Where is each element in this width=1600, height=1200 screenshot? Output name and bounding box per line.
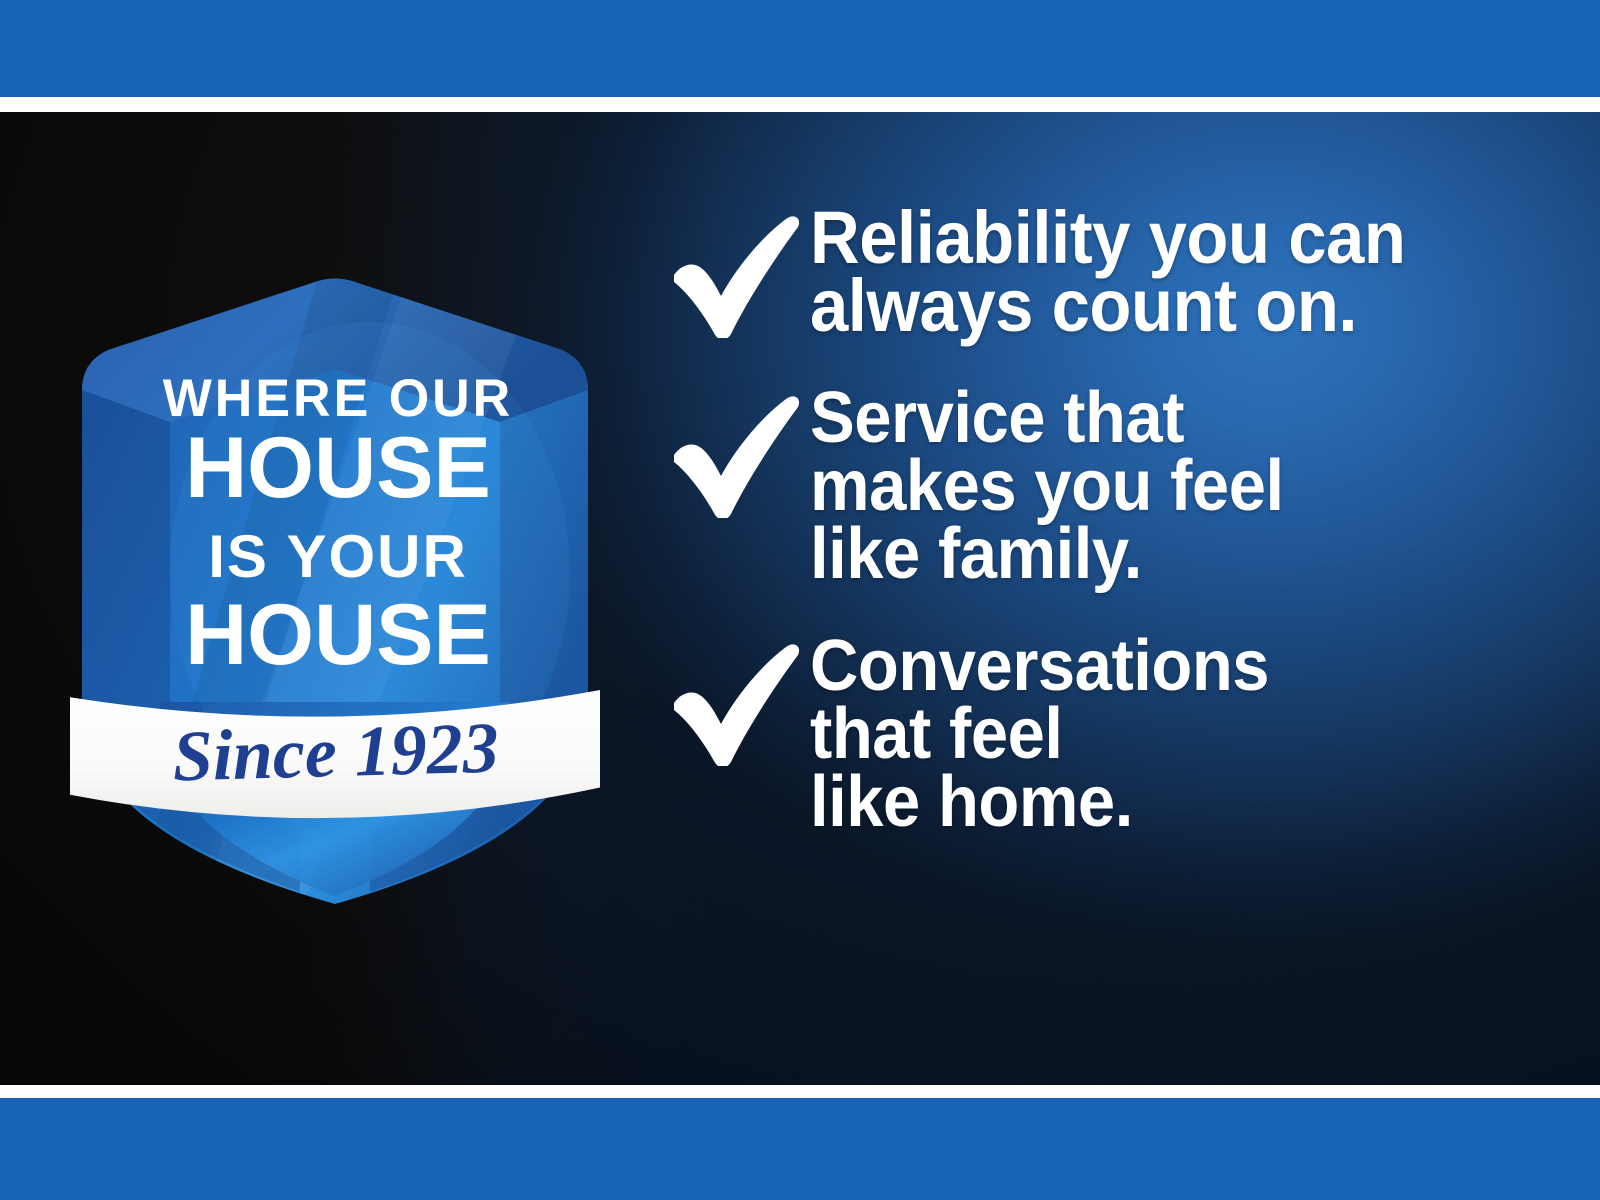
benefit-text: Reliability you can always count on.	[810, 202, 1489, 340]
badge-line-1: WHERE OUR	[163, 368, 514, 428]
ribbon-text: Since 1923	[172, 707, 500, 796]
top-brand-bar	[0, 0, 1600, 97]
badge-line-4: HOUSE	[185, 587, 491, 683]
badge-line-2: HOUSE	[185, 420, 491, 516]
checkmark-icon	[660, 638, 810, 766]
shield-badge: WHERE OUR HOUSE IS YOUR HOUSE Since 1923	[70, 272, 600, 912]
benefit-item: Conversations that feel like home.	[660, 630, 1540, 836]
benefit-item: Reliability you can always count on.	[660, 202, 1540, 340]
promo-poster: WHERE OUR HOUSE IS YOUR HOUSE Since 1923…	[0, 0, 1600, 1200]
benefit-text: Conversations that feel like home.	[810, 630, 1489, 836]
benefit-list: Reliability you can always count on. Ser…	[660, 202, 1540, 878]
bottom-brand-bar	[0, 1098, 1600, 1200]
checkmark-icon	[660, 390, 810, 518]
benefit-item: Service that makes you feel like family.	[660, 382, 1540, 588]
benefit-text: Service that makes you feel like family.	[810, 382, 1489, 588]
checkmark-icon	[660, 210, 810, 338]
badge-line-3: IS YOUR	[208, 523, 468, 590]
poster-canvas: WHERE OUR HOUSE IS YOUR HOUSE Since 1923…	[0, 112, 1600, 1085]
